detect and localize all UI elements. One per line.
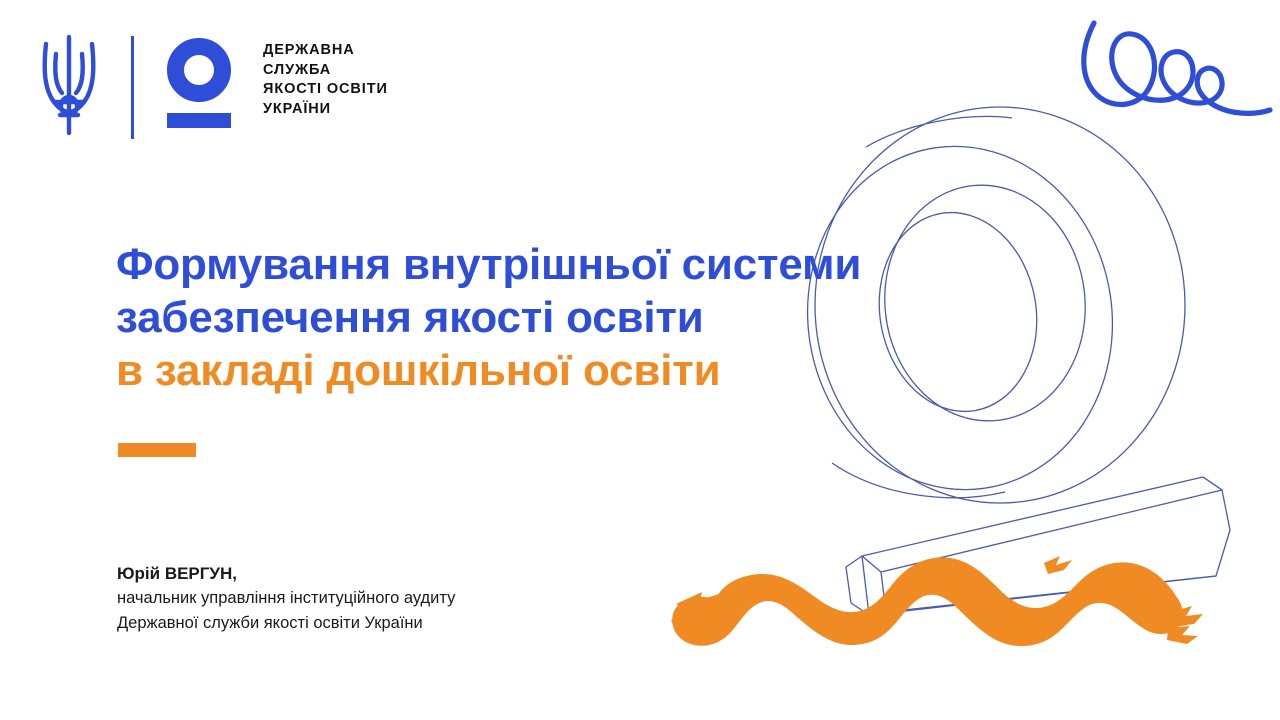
orange-brush-stroke-icon (671, 556, 1203, 646)
presenter-role-line-2: Державної служби якості освіти України (117, 611, 455, 636)
presenter-credit: Юрій ВЕРГУН, начальник управління інстит… (117, 561, 455, 636)
loop-scribble-icon (1084, 23, 1270, 113)
prism-outline-icon (846, 477, 1230, 615)
title-line-1: Формування внутрішньої системи (116, 238, 861, 291)
logo-divider (131, 36, 134, 139)
logo-text-line-4: УКРАЇНИ (263, 100, 388, 120)
logo-text-line-1: ДЕРЖАВНА (263, 41, 388, 61)
logo-text-line-2: СЛУЖБА (263, 61, 388, 81)
title-accent-rule (118, 443, 196, 457)
dsqo-bar-shape (167, 113, 231, 128)
dsqo-ring-shape (167, 38, 231, 102)
title-line-2: забезпечення якості освіти (116, 291, 861, 344)
organization-logo-lockup: ДЕРЖАВНА СЛУЖБА ЯКОСТІ ОСВІТИ УКРАЇНИ (38, 32, 388, 140)
title-line-3: в закладі дошкільної освіти (116, 344, 861, 397)
dsqo-ring-mark-icon (167, 38, 235, 128)
ukraine-trident-icon (38, 32, 100, 140)
organization-name: ДЕРЖАВНА СЛУЖБА ЯКОСТІ ОСВІТИ УКРАЇНИ (263, 41, 388, 119)
slide-title: Формування внутрішньої системи забезпече… (116, 238, 861, 397)
logo-text-line-3: ЯКОСТІ ОСВІТИ (263, 80, 388, 100)
presenter-name: Юрій ВЕРГУН, (117, 561, 455, 586)
presenter-role-line-1: начальник управління інституційного ауди… (117, 586, 455, 611)
slide-canvas: ДЕРЖАВНА СЛУЖБА ЯКОСТІ ОСВІТИ УКРАЇНИ Фо… (0, 0, 1280, 720)
